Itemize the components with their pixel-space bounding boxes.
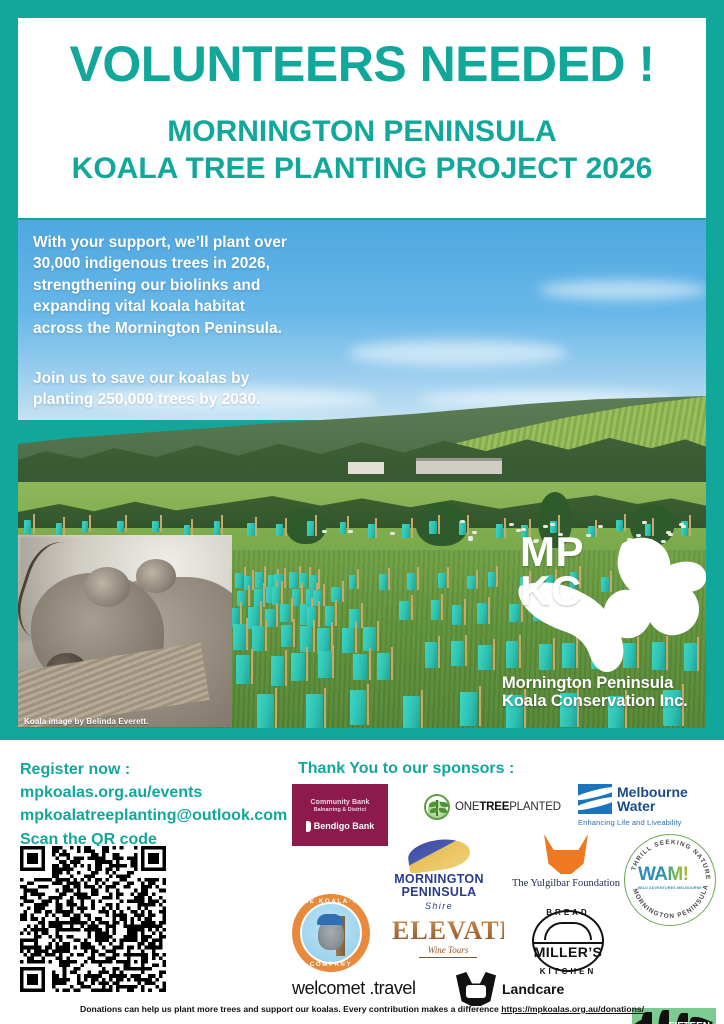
wam-sub: WILD ADVENTURES MELBOURNE xyxy=(638,886,702,890)
landcare-hands-icon xyxy=(456,972,496,1006)
donation-text: Donations can help us plant more trees a… xyxy=(80,1004,501,1014)
sponsor-logo-melbourne-water[interactable]: Melbourne Water Enhancing Life and Livea… xyxy=(578,784,688,827)
guard-stake xyxy=(438,636,440,668)
cap-icon xyxy=(317,914,343,925)
guard-stake xyxy=(388,568,390,590)
bmk-circle xyxy=(532,910,604,972)
guard-stake xyxy=(411,518,413,538)
guard-stake xyxy=(306,647,308,681)
guard-stake xyxy=(315,515,317,536)
guard-stake xyxy=(246,618,248,650)
elevate-sub: Wine Tours xyxy=(392,945,504,955)
welcomet-wordmark: welcomet .travel xyxy=(292,978,416,998)
guard-stake xyxy=(361,603,363,628)
sponsors-heading: Thank You to our sponsors : xyxy=(298,760,514,778)
sheep xyxy=(322,530,327,533)
bread-loaf-icon xyxy=(544,922,592,940)
mps-line-3: Shire xyxy=(380,901,498,911)
guard-stake xyxy=(467,515,469,535)
otp-word-tree: TREE xyxy=(479,801,509,813)
guard-stake xyxy=(293,619,295,647)
sheep xyxy=(472,531,477,534)
guard-stake xyxy=(318,601,320,627)
tree-guard xyxy=(236,655,250,684)
qr-code-image[interactable] xyxy=(20,846,166,992)
sheep xyxy=(460,520,465,523)
tree-guard xyxy=(82,521,88,532)
donation-link[interactable]: https://mpkoalas.org.au/donations/ xyxy=(501,1004,644,1014)
guard-stake xyxy=(447,567,449,588)
otp-word-one: ONE xyxy=(455,801,479,813)
yulgilbar-wordmark: The Yulgilbar Foundation xyxy=(504,878,628,889)
header-card: VOLUNTEERS NEEDED ! MORNINGTON PENINSULA… xyxy=(18,18,706,218)
elevate-wordmark: ELEVATE xyxy=(392,918,504,944)
water-waves-icon xyxy=(578,784,612,814)
hero-photo: MP KC Mornington Peninsula Koala Conserv… xyxy=(18,220,706,728)
guard-stake xyxy=(285,518,287,536)
sponsor-logo-elevate-wine-tours[interactable]: ELEVATE Wine Tours xyxy=(392,918,504,958)
koala-inset-photo xyxy=(18,535,232,727)
tree-guard xyxy=(477,603,487,624)
guard-stake xyxy=(377,621,379,651)
melbourne-water-tagline: Enhancing Life and Liveability xyxy=(578,818,688,827)
guard-stake xyxy=(318,569,320,589)
guard-stake xyxy=(369,648,371,680)
guard-stake xyxy=(375,518,377,538)
guard-stake xyxy=(89,515,91,532)
farm-building xyxy=(348,462,384,474)
tree-guard xyxy=(425,642,437,668)
tree xyxy=(286,508,326,544)
elevate-rule xyxy=(419,957,477,958)
tree-guard xyxy=(252,626,264,651)
photo-credit: Koala image by Belinda Everett. xyxy=(18,715,706,728)
tree-guard xyxy=(368,524,375,538)
guard-stake xyxy=(33,514,35,534)
yulgilbar-emblem-icon xyxy=(544,834,588,874)
tree-guard xyxy=(280,604,290,622)
sponsor-logo-bread-millers-kitchen[interactable]: BREAD MILLER’S KITCHEN xyxy=(520,906,616,976)
tree-guard xyxy=(377,653,390,680)
guard-stake xyxy=(63,517,65,535)
guard-stake xyxy=(465,635,467,666)
sponsor-logo-yulgilbar-foundation[interactable]: The Yulgilbar Foundation xyxy=(504,834,628,889)
sponsor-logo-wam[interactable]: THRILL SEEKING NATURE MORNINGTON PENINSU… xyxy=(624,834,716,926)
mps-line-1: MORNINGTON xyxy=(380,873,498,886)
tree-guard xyxy=(247,523,255,536)
sheep xyxy=(468,536,473,539)
poster-root: VOLUNTEERS NEEDED ! MORNINGTON PENINSULA… xyxy=(0,0,724,1024)
wam-word: WAM! xyxy=(638,864,702,886)
sponsors-grid: Community Bank Balnarring & District Ben… xyxy=(288,782,716,994)
sheep xyxy=(390,532,395,535)
tree-guard xyxy=(478,645,492,670)
tree-guard xyxy=(24,520,31,534)
register-block[interactable]: Register now : mpkoalas.org.au/events mp… xyxy=(20,758,290,851)
guard-stake xyxy=(438,515,440,534)
tree-guard xyxy=(117,521,124,532)
tree-sapling-icon xyxy=(424,794,450,820)
guard-stake xyxy=(355,622,357,653)
tree-guard xyxy=(271,656,284,686)
guard-stake xyxy=(263,583,265,607)
guard-stake xyxy=(335,600,337,626)
mpkc-initials: MP KC xyxy=(520,532,584,611)
guard-stake xyxy=(391,647,393,680)
guard-stake xyxy=(301,583,303,606)
otp-word-planted: PLANTED xyxy=(509,801,561,813)
guard-stake xyxy=(342,581,344,602)
tree-guard xyxy=(233,624,246,650)
mw-line-2: Water xyxy=(617,798,655,814)
guard-stake xyxy=(313,620,315,652)
intro-paragraph-2: Join us to save our koalas by planting 2… xyxy=(33,368,363,411)
guard-stake xyxy=(276,603,278,627)
tree-guard xyxy=(451,641,464,666)
koalaty-arc-bottom: COMPANY xyxy=(292,961,370,968)
subtitle-line-2: KOALA TREE PLANTING PROJECT 2026 xyxy=(72,150,653,188)
melbourne-water-wordmark: Melbourne Water xyxy=(617,785,688,813)
mpkc-initials-line-2: KC xyxy=(520,571,584,610)
tree-guard xyxy=(291,653,305,681)
tree-guard xyxy=(318,651,332,678)
mpkc-initials-line-1: MP xyxy=(520,532,584,571)
tree-guard xyxy=(281,625,292,647)
guard-stake xyxy=(251,649,253,684)
mpkc-logo: MP KC Mornington Peninsula Koala Conserv… xyxy=(502,522,706,722)
guard-stake xyxy=(488,597,490,624)
sponsor-logo-one-tree-planted[interactable]: ONETREEPLANTED xyxy=(424,794,561,820)
intro-paragraph-1: With your support, we’ll plant over 30,0… xyxy=(33,232,363,339)
tree-guard xyxy=(276,524,283,536)
tree-guard xyxy=(307,521,314,536)
bmk-top-text: BREAD xyxy=(520,908,616,917)
tree-guard xyxy=(56,523,62,535)
guard-stake xyxy=(411,595,413,620)
otp-wordmark: ONETREEPLANTED xyxy=(455,801,561,813)
tree-guard xyxy=(235,573,243,588)
page-subtitle: MORNINGTON PENINSULA KOALA TREE PLANTING… xyxy=(72,113,653,189)
tree-guard xyxy=(438,573,446,588)
sponsor-logo-mornington-peninsula-shire[interactable]: MORNINGTON PENINSULA Shire xyxy=(380,840,498,911)
guard-stake xyxy=(323,584,325,606)
tree-guard xyxy=(459,521,466,535)
guard-stake xyxy=(284,568,286,588)
wam-wordmark: WAM! WILD ADVENTURES MELBOURNE xyxy=(638,864,702,890)
guard-stake xyxy=(441,594,443,620)
donation-note: Donations can help us plant more trees a… xyxy=(0,1004,724,1014)
guard-stake xyxy=(265,620,267,651)
tree-guard xyxy=(349,575,356,589)
bendigo-line-2: Balnarring & District xyxy=(314,807,366,813)
guard-stake xyxy=(285,650,287,686)
tree-guard xyxy=(452,605,462,625)
tree-guard xyxy=(379,574,387,590)
tree-guard xyxy=(152,521,159,532)
guard-stake xyxy=(357,569,359,589)
subtitle-line-1: MORNINGTON PENINSULA xyxy=(72,113,653,151)
page-title: VOLUNTEERS NEEDED ! xyxy=(69,38,654,91)
sponsor-logo-landcare[interactable]: Landcare xyxy=(456,972,564,1006)
cloud xyxy=(538,280,706,300)
guard-stake xyxy=(417,567,419,590)
bendigo-line-1: Community Bank xyxy=(311,799,370,806)
mpkc-org-name: Mornington Peninsula Koala Conservation … xyxy=(502,674,706,711)
tree-guard xyxy=(467,576,476,589)
guard-stake xyxy=(252,570,254,590)
bmk-name-text: MILLER’S xyxy=(520,944,616,960)
tree-guard xyxy=(488,572,495,587)
koalaty-arc-top: THE KOALA·TY xyxy=(292,898,370,905)
footer: Register now : mpkoalas.org.au/events mp… xyxy=(0,740,724,1024)
bendigo-wordmark: Bendigo Bank xyxy=(314,821,375,831)
guard-stake xyxy=(255,517,257,536)
cloud xyxy=(348,340,568,366)
tree-guard xyxy=(431,600,440,620)
tree-guard xyxy=(214,521,220,536)
mps-line-2: PENINSULA xyxy=(380,886,498,899)
tree-guard xyxy=(402,524,410,538)
guard-stake xyxy=(221,515,223,536)
tree-guard xyxy=(289,572,298,588)
guard-stake xyxy=(160,515,162,532)
tree-guard xyxy=(407,573,415,590)
guard-stake xyxy=(476,570,478,589)
bendigo-line-3: Bendigo Bank xyxy=(306,821,375,832)
tree-guard xyxy=(340,522,346,534)
tree-guard xyxy=(342,628,354,653)
shire-emblem-icon xyxy=(406,836,472,874)
tree-guard xyxy=(255,572,263,588)
sponsor-logo-the-koala-ty-company[interactable]: THE KOALA·TY COMPANY xyxy=(292,894,370,972)
guard-stake xyxy=(332,645,334,678)
bendigo-bookmark-icon xyxy=(306,821,311,832)
guard-stake xyxy=(260,601,262,629)
tree-guard xyxy=(292,589,300,606)
guard-stake xyxy=(281,581,283,605)
farm-shed xyxy=(416,458,502,474)
guard-stake xyxy=(464,599,466,625)
guard-stake xyxy=(493,639,495,670)
tree-guard xyxy=(429,521,437,534)
guard-stake xyxy=(496,566,498,587)
tree-guard xyxy=(353,654,367,680)
tree-guard xyxy=(399,601,410,620)
sponsor-logo-welcomet-travel[interactable]: welcomet .travel xyxy=(292,978,416,999)
guard-stake xyxy=(125,515,127,532)
qr-code[interactable] xyxy=(20,846,166,992)
guard-stake xyxy=(248,585,250,606)
sheep xyxy=(348,530,353,533)
sponsor-logo-bendigo-bank[interactable]: Community Bank Balnarring & District Ben… xyxy=(292,784,388,846)
landcare-wordmark: Landcare xyxy=(502,981,564,997)
